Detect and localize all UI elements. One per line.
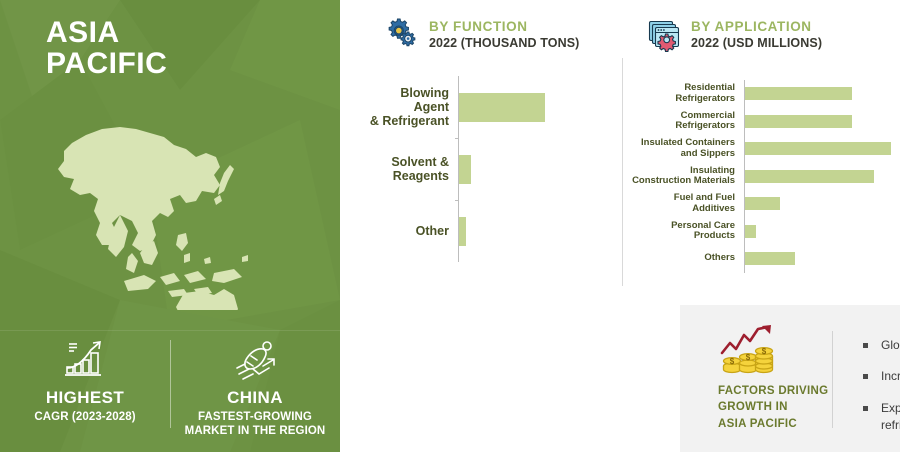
bar-label: Other xyxy=(366,224,458,238)
factors-heading-block: $ $ $ FACTORS DRIVING GROWTH IN ASIA PAC… xyxy=(680,305,832,432)
factors-list: Global phase-out of HCFCs by 85% by late… xyxy=(833,305,900,449)
region-panel: ASIA PACIFIC xyxy=(0,0,340,452)
browser-windows-gear-icon xyxy=(646,16,682,52)
bar-row: Personal Care Products xyxy=(632,218,884,246)
bar-row: Solvent & Reagents xyxy=(366,138,610,200)
coins-growth-arrow-icon: $ $ $ xyxy=(718,323,780,375)
bullet-icon xyxy=(863,343,868,348)
by-application-bars: Residential Refrigerators Commercial Ref… xyxy=(632,80,884,283)
list-item: Increasing Demand for Polyurethane Foam … xyxy=(863,368,900,385)
bar-track xyxy=(744,218,884,246)
bar-track xyxy=(744,135,891,163)
bar-track xyxy=(744,163,884,191)
content-area: BY FUNCTION 2022 (THOUSAND TONS) Blowing… xyxy=(340,0,900,452)
chart-by-application: BY APPLICATION 2022 (USD MILLIONS) Resid… xyxy=(632,0,898,305)
bar-fill xyxy=(745,252,795,265)
bar-row: Insulated Containers and Sippers xyxy=(632,135,884,163)
stat-subtitle: FASTEST-GROWING MARKET IN THE REGION xyxy=(176,410,334,439)
bar-fill xyxy=(745,115,852,128)
list-item-text: Expansion of end-use industries such as … xyxy=(881,400,900,435)
bar-label: Residential Refrigerators xyxy=(632,83,744,104)
list-item-text: Global phase-out of HCFCs by 85% by late… xyxy=(881,337,900,354)
bar-fill xyxy=(745,87,852,100)
chart-by-application-header: BY APPLICATION 2022 (USD MILLIONS) xyxy=(646,16,822,52)
bar-label: Commercial Refrigerators xyxy=(632,111,744,132)
by-function-bars: Blowing Agent & Refrigerant Solvent & Re… xyxy=(366,76,610,285)
bar-chart-growth-icon xyxy=(6,336,164,384)
asia-pacific-map-icon xyxy=(28,95,318,310)
bar-row: Commercial Refrigerators xyxy=(632,108,884,136)
bar-fill xyxy=(745,142,891,155)
bar-label: Others xyxy=(632,253,744,264)
stat-highest-cagr: HIGHEST CAGR (2023-2028) xyxy=(0,336,170,424)
stats-row: HIGHEST CAGR (2023-2028) xyxy=(0,336,340,439)
factors-title: FACTORS DRIVING GROWTH IN ASIA PACIFIC xyxy=(718,383,832,432)
chart-title: BY FUNCTION xyxy=(429,19,579,35)
bar-label: Personal Care Products xyxy=(632,221,744,242)
stats-divider xyxy=(0,330,340,331)
bar-fill xyxy=(459,217,466,246)
svg-text:$: $ xyxy=(730,357,735,366)
stat-title: HIGHEST xyxy=(6,388,164,408)
chart-subtitle: 2022 (USD MILLIONS) xyxy=(691,36,822,51)
growth-factors-footer: $ $ $ FACTORS DRIVING GROWTH IN ASIA PAC… xyxy=(680,305,900,452)
bar-fill xyxy=(459,93,545,122)
charts-region: BY FUNCTION 2022 (THOUSAND TONS) Blowing… xyxy=(340,0,900,305)
bar-fill xyxy=(459,155,471,184)
bullet-icon xyxy=(863,406,868,411)
infographic-root: ASIA PACIFIC xyxy=(0,0,900,452)
stat-title: CHINA xyxy=(176,388,334,408)
svg-text:$: $ xyxy=(762,347,767,356)
bar-label: Insulated Containers and Sippers xyxy=(632,138,744,159)
bullet-icon xyxy=(863,374,868,379)
bar-track xyxy=(744,108,884,136)
list-item: Expansion of end-use industries such as … xyxy=(863,400,900,435)
chart-by-function-header: BY FUNCTION 2022 (THOUSAND TONS) xyxy=(384,16,579,52)
chart-by-application-title-block: BY APPLICATION 2022 (USD MILLIONS) xyxy=(691,16,822,51)
page-title: ASIA PACIFIC xyxy=(46,18,167,80)
stat-china-fastest-growing: CHINA FASTEST-GROWING MARKET IN THE REGI… xyxy=(170,336,340,439)
bar-track xyxy=(744,190,884,218)
bar-row: Residential Refrigerators xyxy=(632,80,884,108)
bar-label: Insulating Construction Materials xyxy=(632,166,744,187)
bar-track xyxy=(458,76,610,138)
bar-fill xyxy=(745,170,874,183)
charts-vertical-divider xyxy=(622,58,623,286)
bar-label: Blowing Agent & Refrigerant xyxy=(366,86,458,128)
list-item: Global phase-out of HCFCs by 85% by late… xyxy=(863,337,900,354)
gears-icon xyxy=(384,16,420,52)
axis-tick xyxy=(455,138,459,139)
bar-track xyxy=(744,245,884,273)
bar-track xyxy=(458,138,610,200)
bar-row: Blowing Agent & Refrigerant xyxy=(366,76,610,138)
bar-row: Fuel and Fuel Additives xyxy=(632,190,884,218)
bar-row: Others xyxy=(632,245,884,273)
chart-subtitle: 2022 (THOUSAND TONS) xyxy=(429,36,579,51)
bar-fill xyxy=(745,197,780,210)
stat-subtitle: CAGR (2023-2028) xyxy=(6,410,164,424)
bar-row: Insulating Construction Materials xyxy=(632,163,884,191)
bar-fill xyxy=(745,225,756,238)
list-item-text: Increasing Demand for Polyurethane Foam … xyxy=(881,368,900,385)
bar-label: Fuel and Fuel Additives xyxy=(632,193,744,214)
bar-label: Solvent & Reagents xyxy=(366,155,458,183)
axis-tick xyxy=(455,200,459,201)
chart-by-function-title-block: BY FUNCTION 2022 (THOUSAND TONS) xyxy=(429,16,579,51)
svg-text:$: $ xyxy=(746,353,751,362)
chart-title: BY APPLICATION xyxy=(691,19,822,35)
rocket-person-icon xyxy=(176,336,334,384)
bar-row: Other xyxy=(366,200,610,262)
bar-track xyxy=(458,200,610,262)
chart-by-function: BY FUNCTION 2022 (THOUSAND TONS) Blowing… xyxy=(358,0,620,305)
bar-track xyxy=(744,80,884,108)
